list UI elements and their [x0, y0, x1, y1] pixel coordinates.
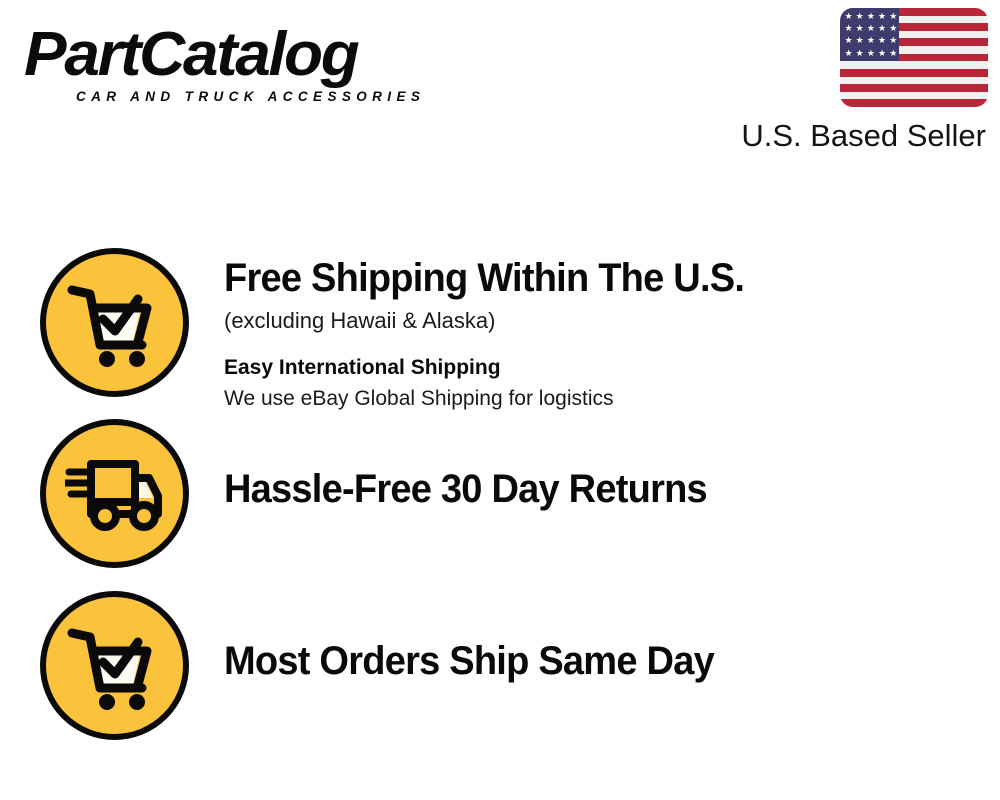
delivery-truck-icon — [40, 419, 189, 568]
flag-star-icon: ★ — [855, 24, 864, 33]
shopping-cart-check-icon — [40, 248, 189, 397]
feature-subline: (excluding Hawaii & Alaska) — [224, 306, 970, 336]
flag-star-icon: ★ — [878, 12, 887, 21]
brand-logo[interactable]: PartCatalog CAR AND TRUCK ACCESSORIES — [24, 22, 494, 104]
flag-star-icon: ★ — [855, 36, 864, 45]
flag-star-icon: ★ — [855, 12, 864, 21]
flag-stripe — [840, 92, 988, 100]
flag-stripe — [840, 77, 988, 85]
flag-canton: ★★★★★★★★★★★★★★★★★★★★ — [840, 8, 899, 61]
feature-headline: Hassle-Free 30 Day Returns — [224, 465, 933, 513]
flag-star-icon: ★ — [889, 24, 898, 33]
flag-star-icon: ★ — [889, 36, 898, 45]
feature-row: Most Orders Ship Same Day — [40, 591, 970, 740]
flag-stripe — [840, 69, 988, 77]
feature-headline: Free Shipping Within The U.S. — [224, 254, 933, 302]
flag-star-icon: ★ — [866, 49, 875, 58]
feature-subhead-note: We use eBay Global Shipping for logistic… — [224, 384, 970, 413]
us-flag-icon: ★★★★★★★★★★★★★★★★★★★★ — [840, 8, 988, 107]
seller-badge-label: U.S. Based Seller — [718, 118, 986, 154]
flag-star-icon: ★ — [866, 36, 875, 45]
feature-text-block: Free Shipping Within The U.S. (excluding… — [189, 248, 970, 413]
flag-star-icon: ★ — [878, 24, 887, 33]
page-header: PartCatalog CAR AND TRUCK ACCESSORIES ★★… — [0, 0, 1000, 170]
flag-star-icon: ★ — [844, 36, 853, 45]
flag-star-icon: ★ — [844, 12, 853, 21]
flag-star-icon: ★ — [889, 12, 898, 21]
flag-star-icon: ★ — [866, 12, 875, 21]
flag-star-icon: ★ — [844, 49, 853, 58]
feature-subhead-bold: Easy International Shipping — [224, 354, 970, 382]
us-based-seller-badge: ★★★★★★★★★★★★★★★★★★★★ U.S. Based Seller — [718, 8, 988, 154]
flag-star-icon: ★ — [889, 49, 898, 58]
flag-stripe — [840, 61, 988, 69]
feature-text-block: Most Orders Ship Same Day — [189, 591, 970, 685]
flag-star-icon: ★ — [878, 49, 887, 58]
flag-stripe — [840, 84, 988, 92]
feature-headline: Most Orders Ship Same Day — [224, 637, 933, 685]
logo-wordmark: PartCatalog — [24, 22, 508, 88]
shopping-cart-check-icon — [40, 591, 189, 740]
flag-star-icon: ★ — [878, 36, 887, 45]
flag-stripe — [840, 99, 988, 107]
logo-tagline: CAR AND TRUCK ACCESSORIES — [76, 89, 494, 104]
feature-row: Hassle-Free 30 Day Returns — [40, 419, 970, 568]
flag-star-icon: ★ — [866, 24, 875, 33]
flag-star-icon: ★ — [855, 49, 864, 58]
feature-text-block: Hassle-Free 30 Day Returns — [189, 419, 970, 513]
feature-row: Free Shipping Within The U.S. (excluding… — [40, 248, 970, 413]
flag-star-icon: ★ — [844, 24, 853, 33]
